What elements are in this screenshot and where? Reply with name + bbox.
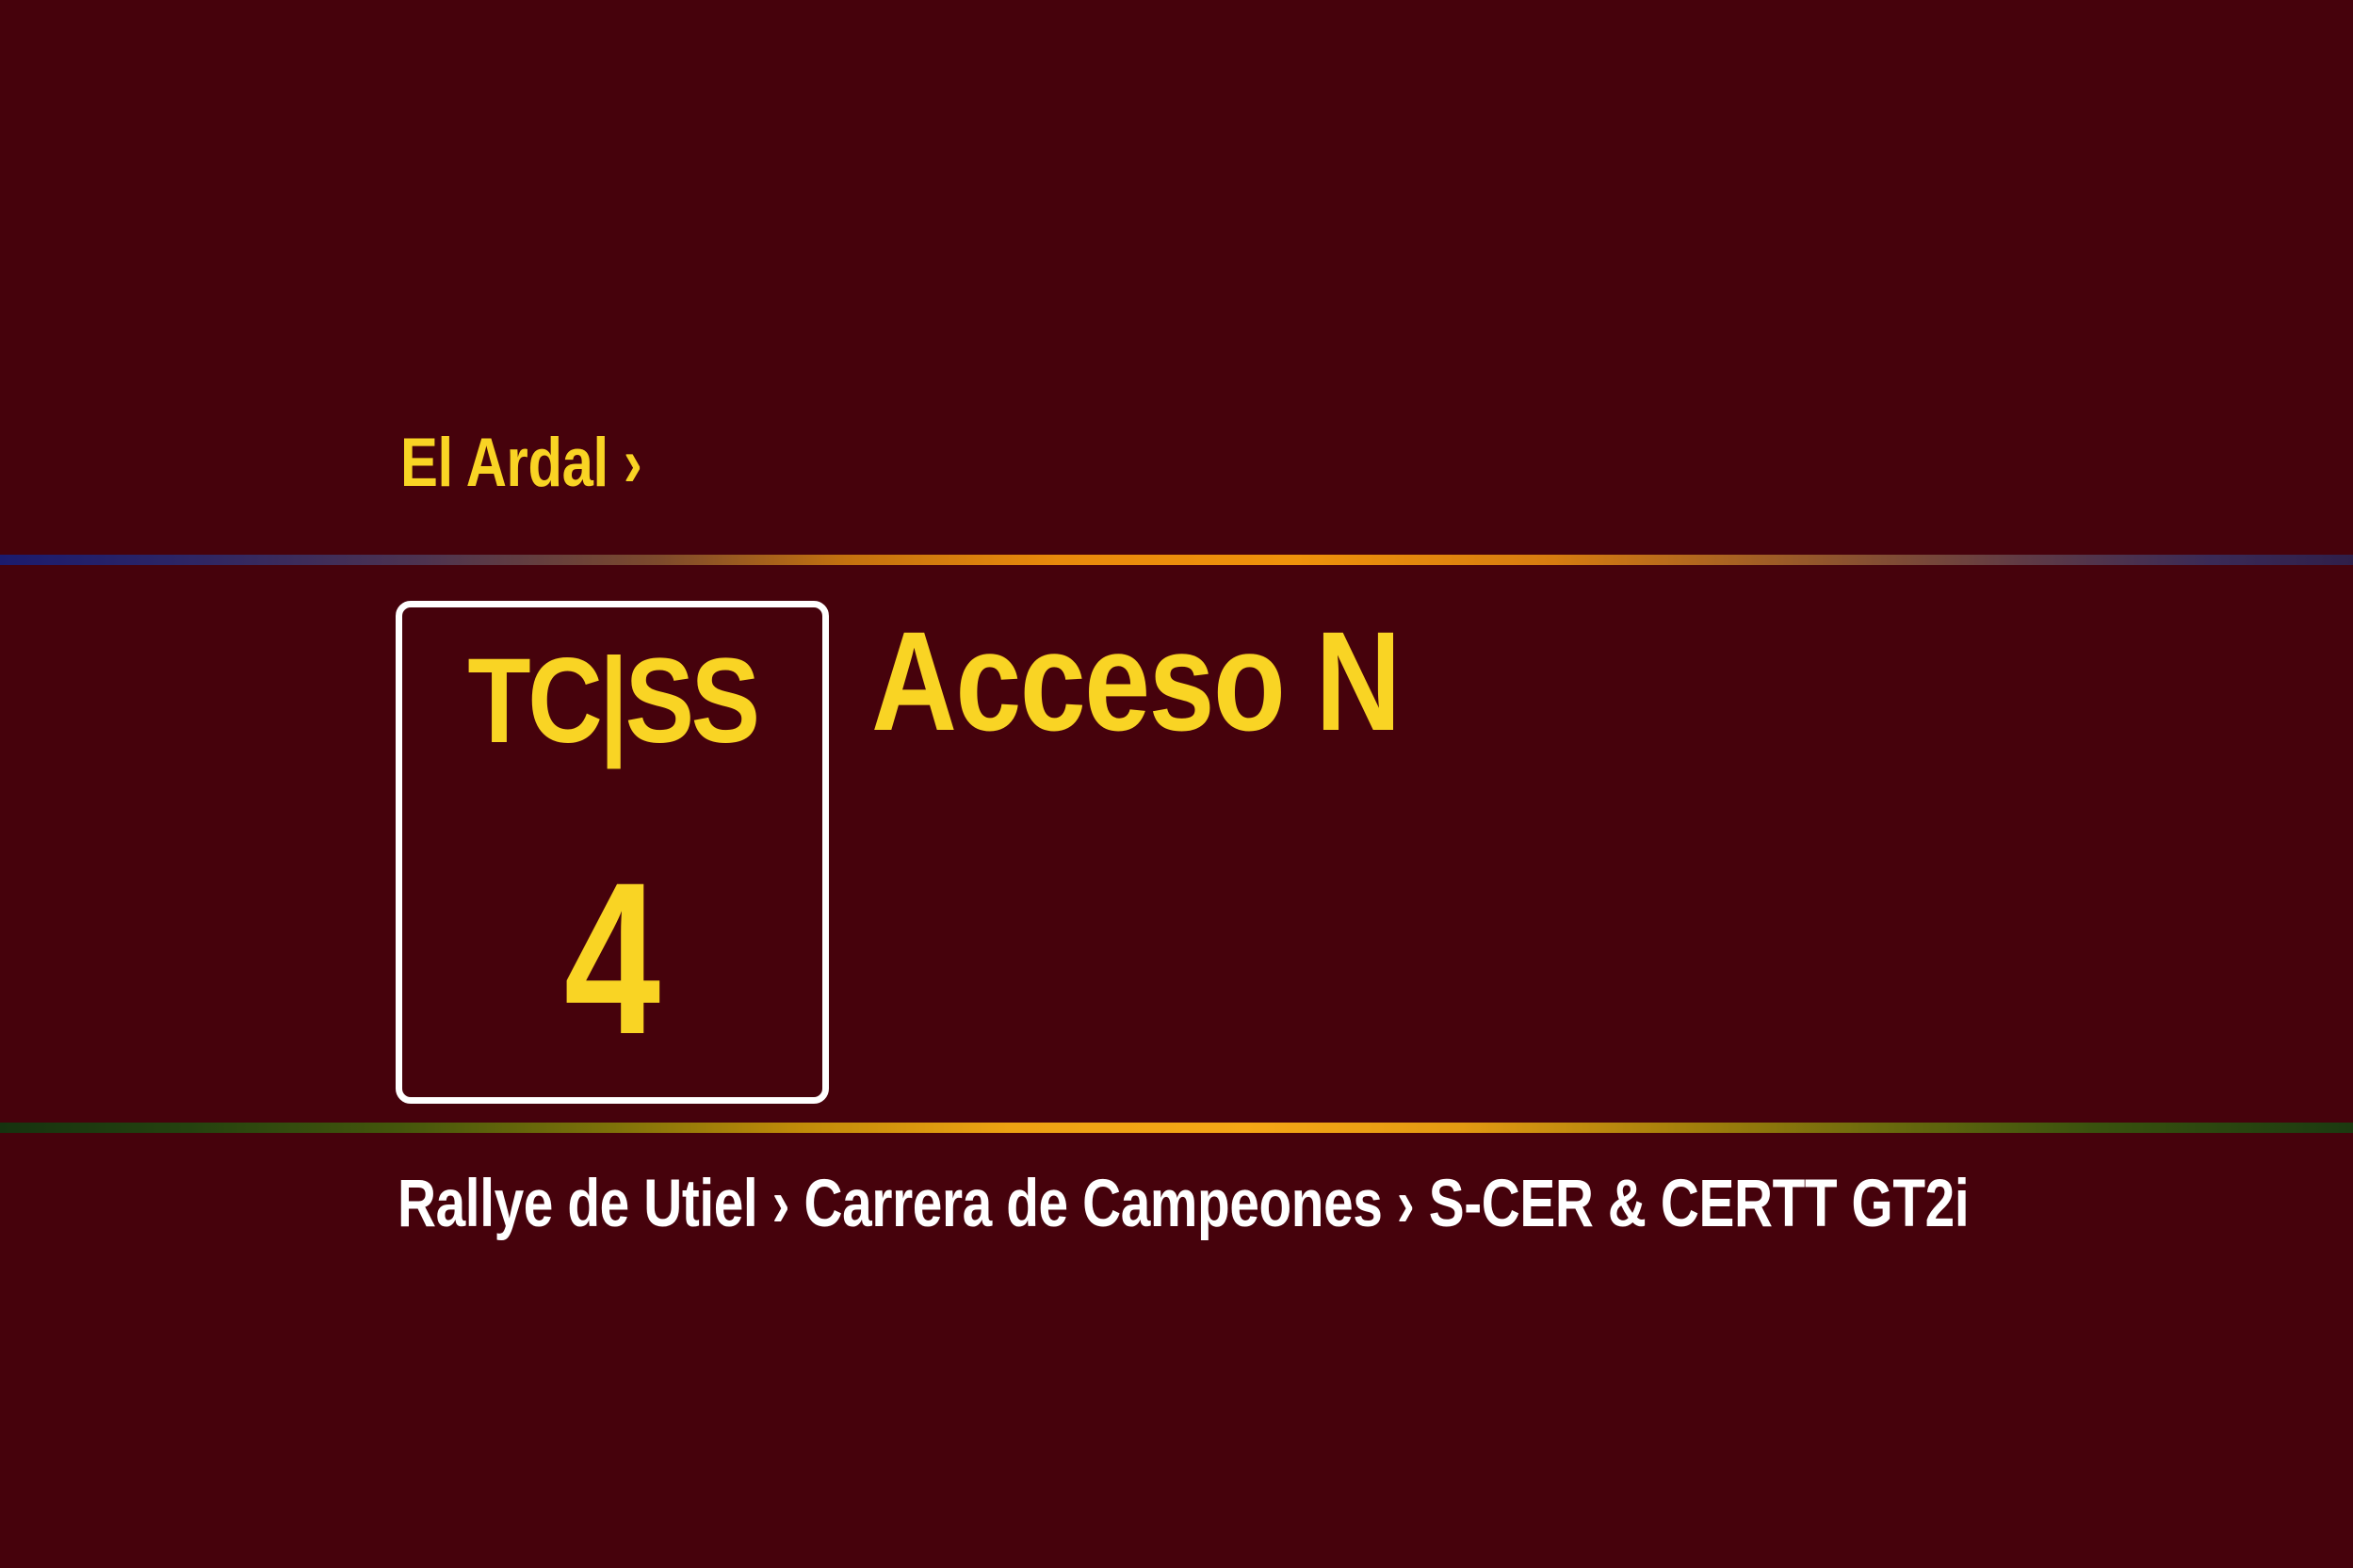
breadcrumb-top[interactable]: El Ardal › — [400, 428, 641, 497]
stage-banner: El Ardal › TC|SS 4 Acceso N Rallye de Ut… — [0, 0, 2353, 1568]
badge-code-label: TC|SS — [431, 641, 793, 762]
page-title: Acceso N — [871, 610, 1400, 752]
badge-number-label: 4 — [445, 850, 781, 1067]
stage-badge: TC|SS 4 — [396, 601, 829, 1104]
breadcrumb-footer[interactable]: Rallye de Utiel › Carrera de Campeones ›… — [398, 1171, 1969, 1237]
divider-rule-top — [0, 555, 2353, 565]
divider-rule-bottom — [0, 1123, 2353, 1133]
